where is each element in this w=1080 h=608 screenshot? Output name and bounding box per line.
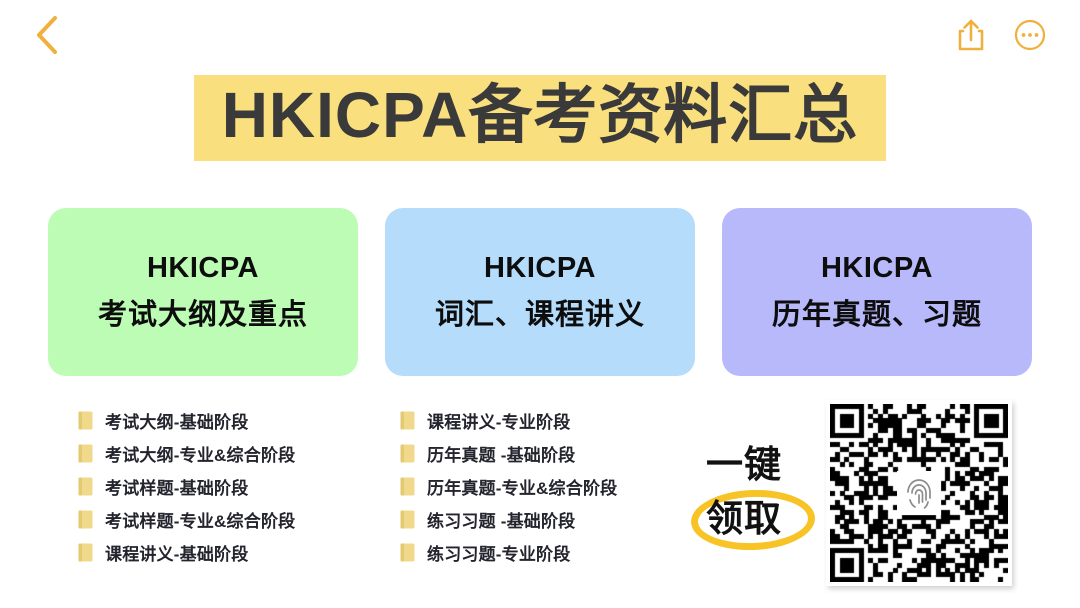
- folder-icon: [400, 444, 415, 463]
- file-list-item[interactable]: 课程讲义-专业阶段: [400, 404, 617, 437]
- folder-icon: [78, 411, 93, 430]
- file-list-item-label: 考试样题-专业&综合阶段: [105, 507, 295, 532]
- cta-line-one: 一键: [684, 446, 804, 483]
- file-list-item-label: 考试大纲-专业&综合阶段: [105, 441, 295, 466]
- folder-icon: [78, 543, 93, 562]
- category-cards-row: HKICPA考试大纲及重点HKICPA词汇、课程讲义HKICPA历年真题、习题: [0, 208, 1080, 376]
- file-list-item-label: 课程讲义-基础阶段: [105, 540, 248, 565]
- file-list-column-2: 课程讲义-专业阶段历年真题 -基础阶段历年真题-专业&综合阶段练习习题 -基础阶…: [400, 404, 617, 569]
- file-list-column-1: 考试大纲-基础阶段考试大纲-专业&综合阶段考试样题-基础阶段考试样题-专业&综合…: [78, 404, 295, 569]
- qr-center-badge: [897, 471, 941, 515]
- file-list-item[interactable]: 课程讲义-基础阶段: [78, 536, 295, 569]
- share-button[interactable]: [956, 18, 986, 52]
- fingerprint-icon: [904, 476, 934, 510]
- page-title-container: HKICPA备考资料汇总: [0, 75, 1080, 161]
- file-list-item[interactable]: 练习习题-专业阶段: [400, 536, 617, 569]
- file-list-item[interactable]: 考试大纲-基础阶段: [78, 404, 295, 437]
- more-horizontal-icon: [1014, 19, 1046, 51]
- card-title-cn: 考试大纲及重点: [98, 291, 308, 333]
- folder-icon: [400, 510, 415, 529]
- file-list-item-label: 考试大纲-基础阶段: [105, 408, 248, 433]
- file-list-item-label: 历年真题-专业&综合阶段: [427, 474, 617, 499]
- file-list-item-label: 练习习题 -基础阶段: [427, 507, 575, 532]
- nav-left-group: [34, 14, 60, 56]
- file-list-item[interactable]: 历年真题-专业&综合阶段: [400, 470, 617, 503]
- back-button[interactable]: [34, 14, 60, 56]
- cta-line-two-wrapper: 领取: [696, 490, 792, 548]
- category-card-3[interactable]: HKICPA历年真题、习题: [722, 208, 1032, 376]
- folder-icon: [78, 510, 93, 529]
- share-icon: [956, 18, 986, 52]
- card-title-cn: 词汇、课程讲义: [435, 291, 645, 333]
- folder-icon: [400, 510, 415, 529]
- file-list-item[interactable]: 考试样题-基础阶段: [78, 470, 295, 503]
- top-navigation-bar: [0, 0, 1080, 70]
- card-title-en: HKICPA: [147, 252, 259, 285]
- card-title-en: HKICPA: [821, 252, 933, 285]
- more-options-button[interactable]: [1014, 19, 1046, 51]
- folder-icon: [400, 477, 415, 496]
- folder-icon: [78, 444, 93, 463]
- folder-icon: [78, 510, 93, 529]
- qr-code[interactable]: [826, 400, 1012, 586]
- folder-icon: [78, 543, 93, 562]
- folder-icon: [400, 543, 415, 562]
- folder-icon: [78, 477, 93, 496]
- folder-icon: [400, 477, 415, 496]
- cta-line-two: 领取: [706, 498, 782, 539]
- title-highlight-banner: HKICPA备考资料汇总: [194, 75, 887, 161]
- file-list-item-label: 课程讲义-专业阶段: [427, 408, 570, 433]
- folder-icon: [78, 444, 93, 463]
- folder-icon: [400, 543, 415, 562]
- file-list-item[interactable]: 考试大纲-专业&综合阶段: [78, 437, 295, 470]
- page-title: HKICPA备考资料汇总: [222, 83, 859, 147]
- category-card-1[interactable]: HKICPA考试大纲及重点: [48, 208, 358, 376]
- category-card-2[interactable]: HKICPA词汇、课程讲义: [385, 208, 695, 376]
- file-list-item[interactable]: 考试样题-专业&综合阶段: [78, 503, 295, 536]
- claim-cta[interactable]: 一键 领取: [684, 446, 804, 548]
- chevron-left-icon: [34, 14, 60, 56]
- folder-icon: [78, 411, 93, 430]
- folder-icon: [78, 477, 93, 496]
- file-list-item-label: 历年真题 -基础阶段: [427, 441, 575, 466]
- folder-icon: [400, 411, 415, 430]
- file-list-item[interactable]: 练习习题 -基础阶段: [400, 503, 617, 536]
- card-title-en: HKICPA: [484, 252, 596, 285]
- folder-icon: [400, 411, 415, 430]
- folder-icon: [400, 444, 415, 463]
- file-list-item-label: 考试样题-基础阶段: [105, 474, 248, 499]
- file-list-item[interactable]: 历年真题 -基础阶段: [400, 437, 617, 470]
- file-list-item-label: 练习习题-专业阶段: [427, 540, 570, 565]
- card-title-cn: 历年真题、习题: [772, 291, 982, 333]
- nav-right-group: [956, 18, 1046, 52]
